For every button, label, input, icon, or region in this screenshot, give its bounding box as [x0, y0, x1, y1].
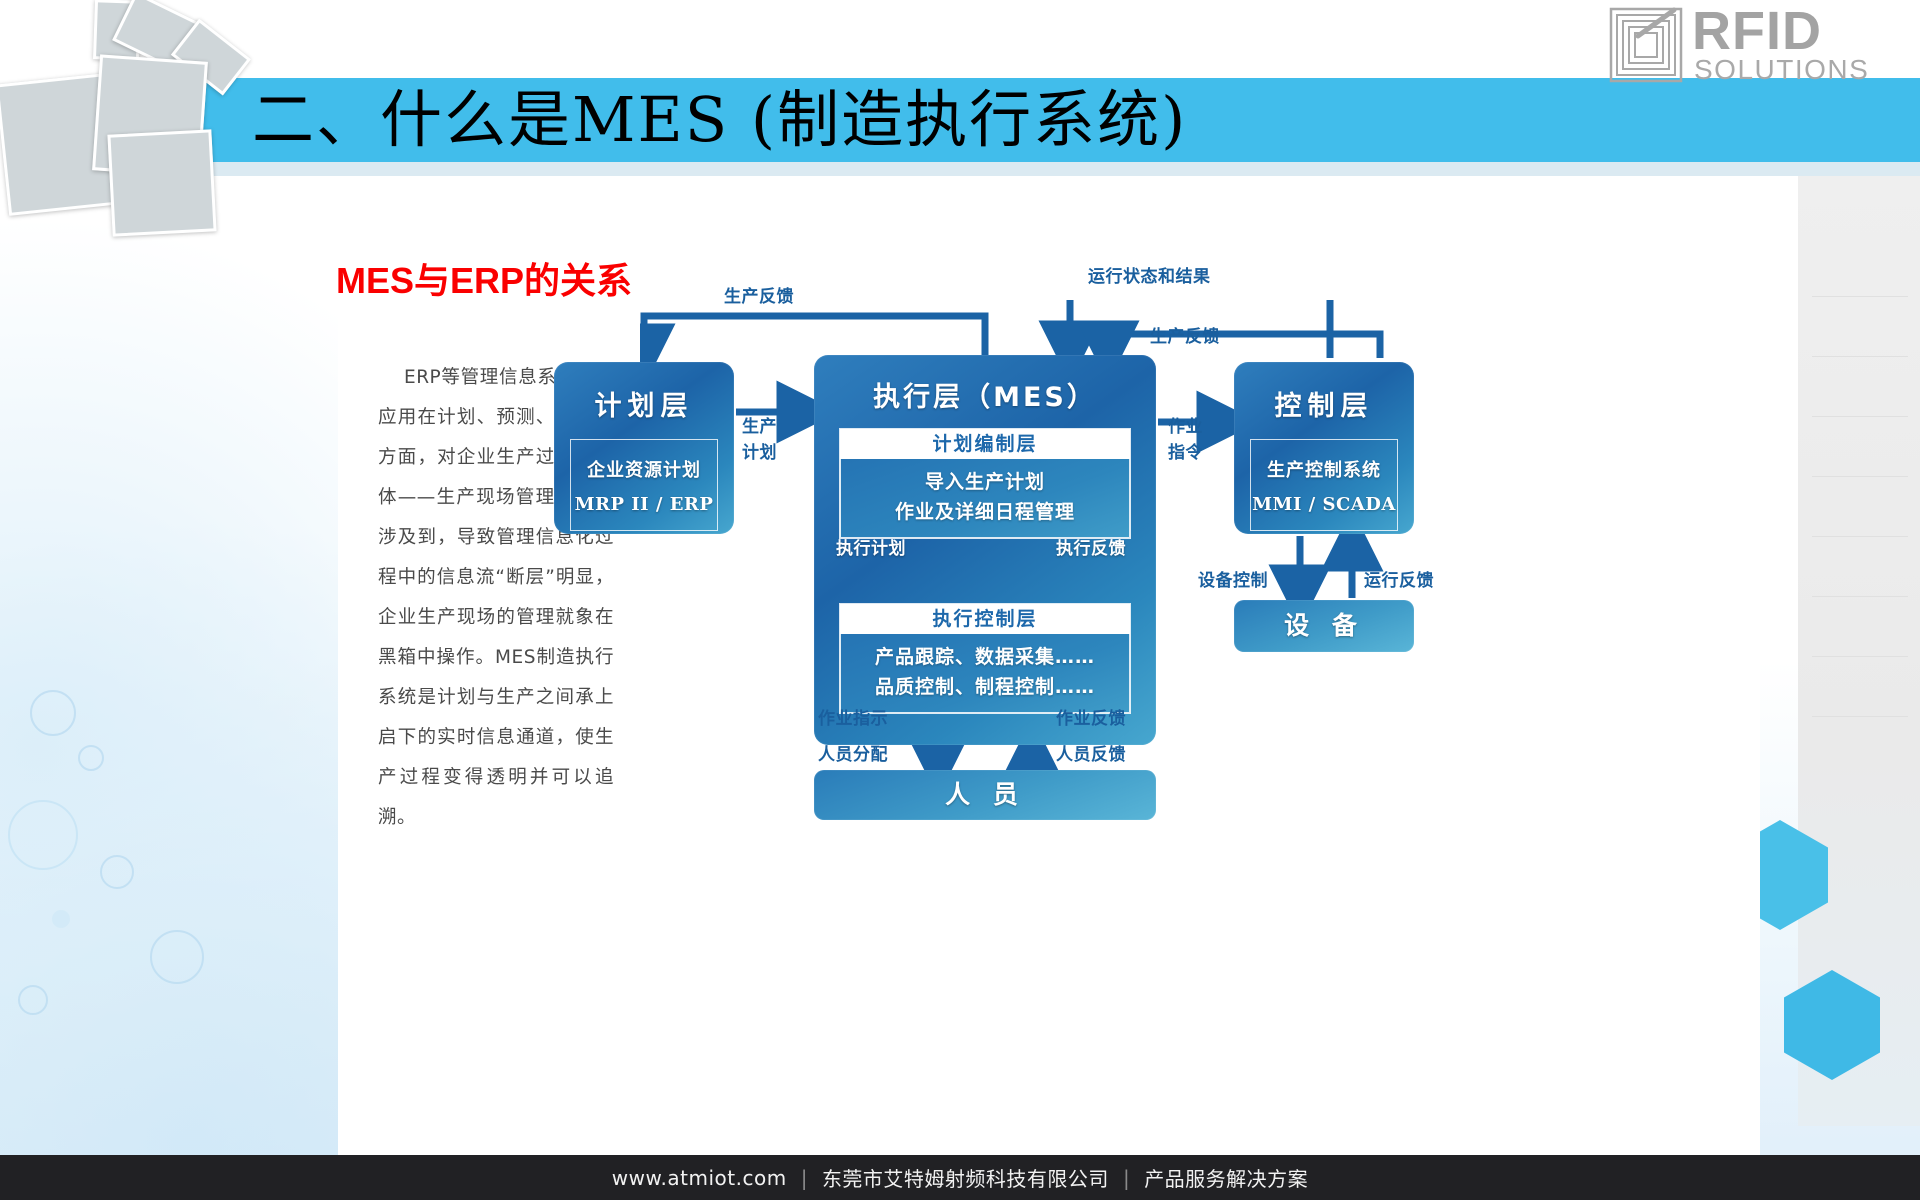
label-run-feedback: 运行反馈 [1364, 566, 1434, 591]
label-exec-feedback: 执行反馈 [1056, 534, 1126, 559]
mes-sub-exec-block: 执行控制层 产品跟踪、数据采集…… 品质控制、制程控制…… [839, 603, 1131, 714]
decor-circle [30, 690, 76, 736]
section-subtitle: MES与ERP的关系 [336, 252, 632, 304]
label-people-feedback: 人员反馈 [1056, 740, 1126, 765]
footer-separator: | [1109, 1166, 1144, 1190]
decor-circle [18, 985, 48, 1015]
node-control-layer-inner: 生产控制系统 MMI / SCADA [1250, 439, 1398, 531]
node-people-title: 人 员 [814, 770, 1156, 820]
label-production-feedback-right: 生产反馈 [1150, 322, 1220, 347]
mes-sub-planning-line1: 导入生产计划 [841, 467, 1129, 497]
planning-inner-zh: 企业资源计划 [587, 456, 701, 482]
mes-sub-exec-head: 执行控制层 [840, 604, 1130, 634]
slide-canvas: 二、什么是MES (制造执行系统) RFID SOLUTIONS MES与ERP… [0, 0, 1920, 1200]
control-inner-zh: 生产控制系统 [1267, 456, 1381, 482]
page-footer: www.atmiot.com | 东莞市艾特姆射频科技有限公司 | 产品服务解决… [0, 1155, 1920, 1200]
brand-logo-text: RFID [1692, 4, 1822, 58]
label-exec-plan: 执行计划 [836, 534, 906, 559]
label-device-control: 设备控制 [1198, 566, 1268, 591]
footer-tagline: 产品服务解决方案 [1144, 1163, 1308, 1192]
node-planning-layer-title: 计划层 [554, 362, 734, 423]
label-job-order-line2: 指令 [1168, 438, 1203, 463]
label-production-plan-line1: 生产 [742, 412, 777, 437]
corner-photo-collage [0, 0, 220, 230]
rfid-antenna-icon [1608, 6, 1684, 84]
node-execution-layer-title: 执行层（MES） [814, 355, 1156, 414]
mes-sub-exec-line2: 品质控制、制程控制…… [841, 672, 1129, 702]
footer-url[interactable]: www.atmiot.com [612, 1166, 787, 1190]
mes-sub-exec-body: 产品跟踪、数据采集…… 品质控制、制程控制…… [840, 634, 1130, 713]
footer-company: 东莞市艾特姆射频科技有限公司 [822, 1163, 1109, 1192]
title-band-shadow [140, 162, 1920, 176]
brand-logo: RFID SOLUTIONS [1608, 4, 1908, 90]
control-inner-en: MMI / SCADA [1252, 494, 1396, 515]
decor-circle [78, 745, 104, 771]
node-device[interactable]: 设 备 [1234, 600, 1414, 652]
mes-sub-exec-line1: 产品跟踪、数据采集…… [841, 642, 1129, 672]
node-planning-layer-inner: 企业资源计划 MRP II / ERP [570, 439, 718, 531]
node-device-title: 设 备 [1234, 600, 1414, 652]
label-job-instruction: 作业指示 [818, 704, 888, 729]
footer-separator: | [787, 1166, 822, 1190]
node-control-layer-title: 控制层 [1234, 362, 1414, 423]
node-planning-layer[interactable]: 计划层 企业资源计划 MRP II / ERP [554, 362, 734, 534]
mes-sub-planning-body: 导入生产计划 作业及详细日程管理 [840, 459, 1130, 538]
decor-circle [100, 855, 134, 889]
label-job-feedback: 作业反馈 [1056, 704, 1126, 729]
mes-sub-planning-head: 计划编制层 [840, 429, 1130, 459]
page-title: 二、什么是MES (制造执行系统) [252, 76, 1432, 164]
node-control-layer[interactable]: 控制层 生产控制系统 MMI / SCADA [1234, 362, 1414, 534]
mes-sub-planning-line2: 作业及详细日程管理 [841, 497, 1129, 527]
label-production-plan-line2: 计划 [742, 438, 777, 463]
decor-circle [52, 910, 70, 928]
decor-circle [8, 800, 78, 870]
decor-circle [150, 930, 204, 984]
label-people-assign: 人员分配 [818, 740, 888, 765]
brand-logo-subtext: SOLUTIONS [1694, 56, 1869, 84]
mes-erp-relationship-diagram: 计划层 企业资源计划 MRP II / ERP 执行层（MES） 计划编制层 导… [640, 300, 1600, 840]
mes-sub-planning-block: 计划编制层 导入生产计划 作业及详细日程管理 [839, 428, 1131, 539]
label-run-status-result: 运行状态和结果 [1088, 262, 1211, 287]
label-job-order-line1: 作业 [1168, 412, 1203, 437]
photo-globe-icon [107, 129, 216, 236]
planning-inner-en: MRP II / ERP [575, 494, 714, 515]
node-people[interactable]: 人 员 [814, 770, 1156, 820]
label-production-feedback-top: 生产反馈 [724, 282, 794, 307]
